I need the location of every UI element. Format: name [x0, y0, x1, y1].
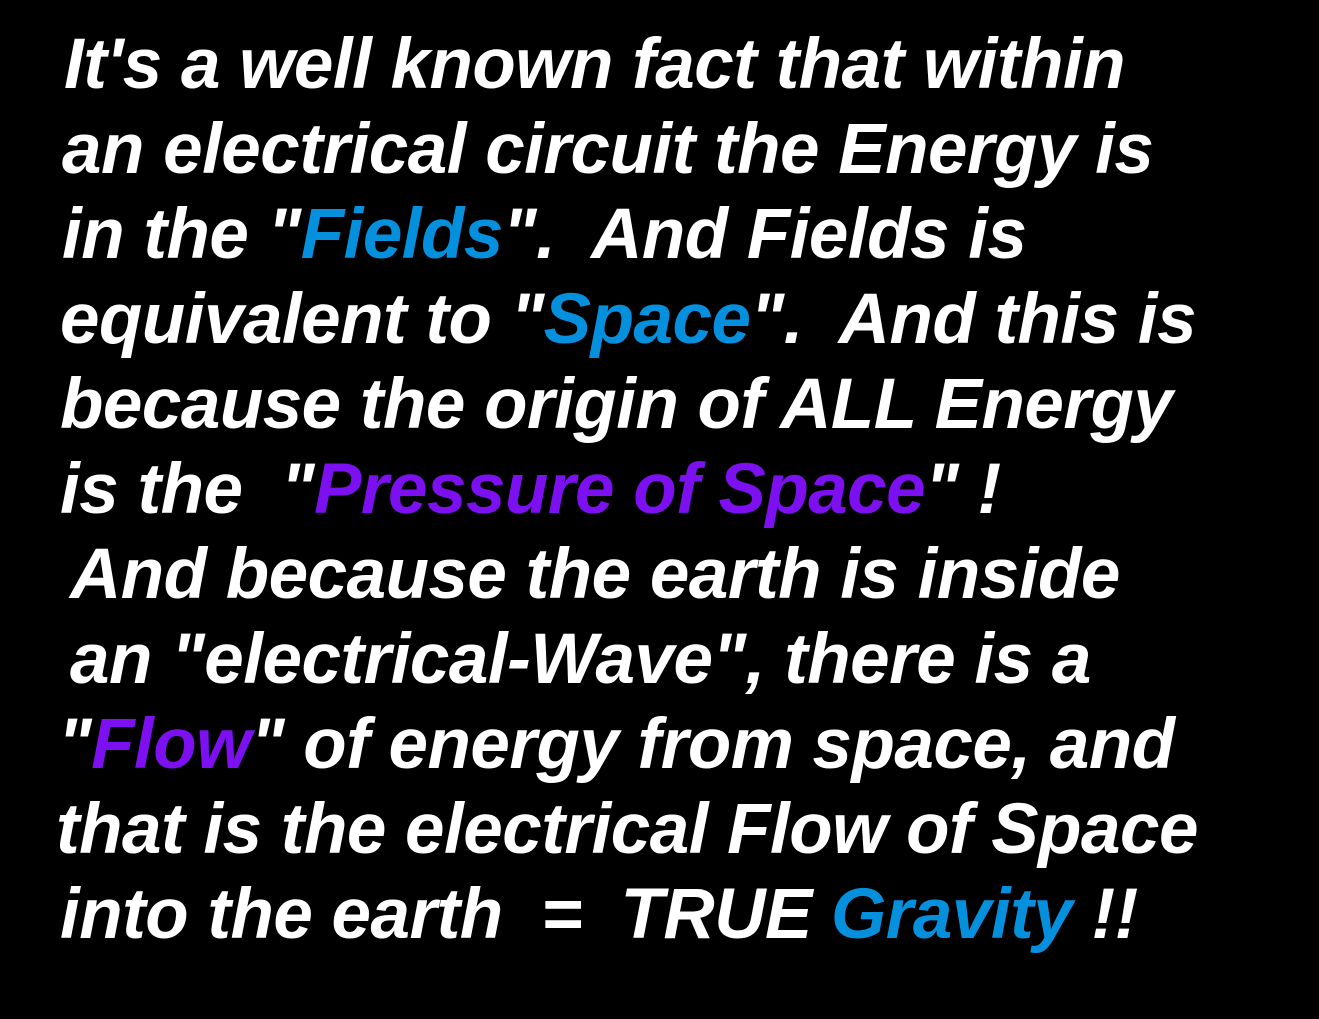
line-11-segment-2: Gravity [831, 875, 1072, 954]
line-9-segment-3: " of energy from space, and [251, 705, 1175, 784]
line-11-segment-1: into the earth = TRUE [60, 875, 831, 954]
line-6-segment-2: Pressure of Space [314, 450, 925, 529]
line-8-segment-1: an "electrical-Wave", there is a [70, 620, 1091, 699]
line-7-segment-1: And because the earth is inside [70, 535, 1120, 614]
line-2-segment-1: an electrical circuit the Energy is [62, 110, 1153, 189]
slide-text-block: It's a well known fact that withinan ele… [0, 22, 1319, 957]
line-1: It's a well known fact that within [0, 22, 1319, 107]
line-9-segment-1: " [58, 705, 91, 784]
line-5-segment-1: because the origin of ALL Energy [60, 365, 1172, 444]
line-3-segment-2: Fields [301, 195, 503, 274]
line-11: into the earth = TRUE Gravity !! [0, 872, 1319, 957]
line-4-segment-3: ". And this is [750, 280, 1196, 359]
line-10: that is the electrical Flow of Space [0, 787, 1319, 872]
line-3-segment-3: ". And Fields is [503, 195, 1027, 274]
line-7: And because the earth is inside [0, 532, 1319, 617]
line-6-segment-1: is the " [60, 450, 314, 529]
line-3-segment-1: in the " [62, 195, 301, 274]
line-9-segment-2: Flow [91, 705, 251, 784]
line-1-segment-1: It's a well known fact that within [64, 25, 1125, 104]
line-8: an "electrical-Wave", there is a [0, 617, 1319, 702]
line-4: equivalent to "Space". And this is [0, 277, 1319, 362]
line-3: in the "Fields". And Fields is [0, 192, 1319, 277]
line-11-segment-3: !! [1072, 875, 1138, 954]
line-2: an electrical circuit the Energy is [0, 107, 1319, 192]
line-4-segment-2: Space [544, 280, 751, 359]
line-4-segment-1: equivalent to " [60, 280, 544, 359]
line-9: "Flow" of energy from space, and [0, 702, 1319, 787]
slide-canvas: It's a well known fact that withinan ele… [0, 0, 1319, 1019]
line-6: is the "Pressure of Space" ! [0, 447, 1319, 532]
line-5: because the origin of ALL Energy [0, 362, 1319, 447]
line-10-segment-1: that is the electrical Flow of Space [56, 790, 1198, 869]
line-6-segment-3: " ! [925, 450, 1001, 529]
